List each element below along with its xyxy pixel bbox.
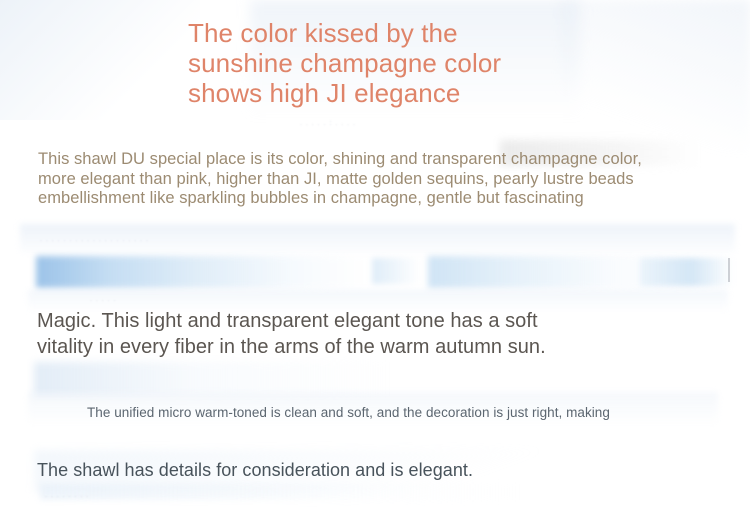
paragraph-unified-warm-tone: The unified micro warm-toned is clean an… <box>87 404 610 421</box>
band-edge-tick <box>728 258 730 282</box>
page-heading: The color kissed by the sunshine champag… <box>188 18 501 108</box>
blue-band-middle <box>372 258 420 284</box>
paper-wash-top-left <box>0 0 200 120</box>
paragraph-shawl-details: The shawl has details for consideration … <box>37 459 473 482</box>
blue-band-right <box>428 256 728 288</box>
paper-wash-ghost-row <box>20 224 735 254</box>
paper-wash-bottom <box>40 484 520 500</box>
paper-wash-top-right <box>560 0 750 150</box>
blue-band-left <box>36 256 366 288</box>
paragraph-magic-tone: Magic. This light and transparent elegan… <box>37 308 546 360</box>
ghost-text-band: . . . . . . . . . . . . . . . . . . . <box>40 236 149 243</box>
blue-band-far-right <box>640 258 732 286</box>
document-page: . . . . . : . . . . . . . . . . . . . . … <box>0 0 750 532</box>
paragraph-champagne-description: This shawl DU special place is its color… <box>38 150 642 209</box>
ghost-text-upper: . . . . . : . . . . <box>300 120 356 127</box>
paper-wash-behind-magic <box>34 362 389 396</box>
ghost-text-bottom: . . . . . . . . <box>45 492 89 499</box>
ghost-text-lower: . . . . . <box>90 296 117 303</box>
